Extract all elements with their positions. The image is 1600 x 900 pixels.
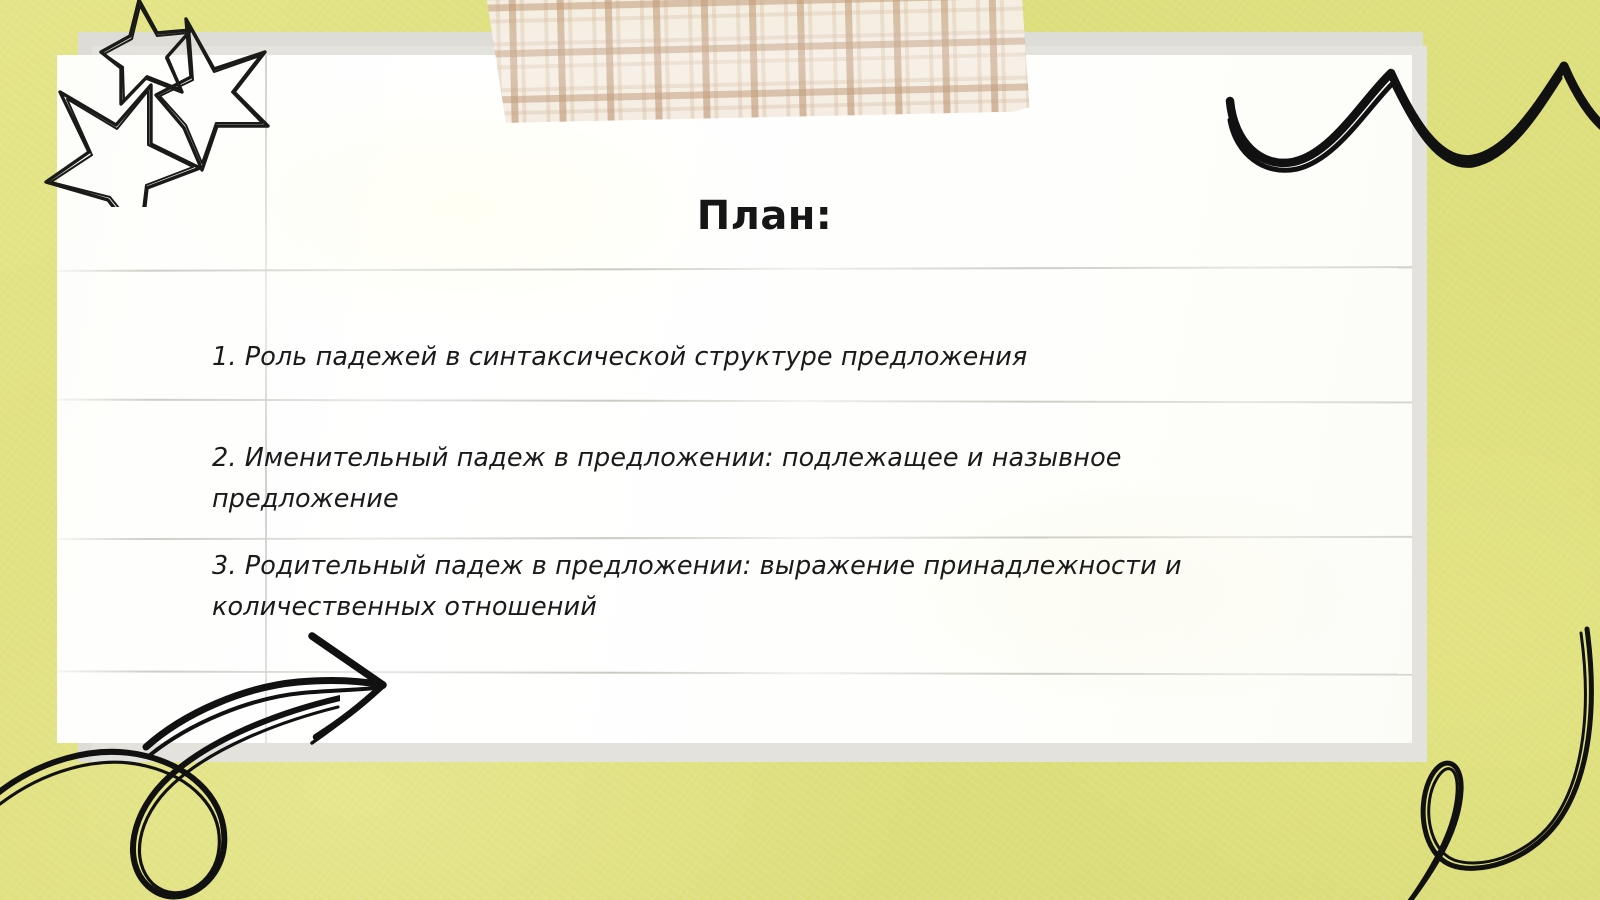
page-title: План:	[57, 193, 1412, 239]
plan-item: 3. Родительный падеж в предложении: выра…	[212, 546, 1212, 628]
ruled-line	[57, 266, 1412, 272]
slide: План: 1. Роль падежей в синтаксической с…	[0, 0, 1600, 900]
ruled-line	[57, 670, 1412, 675]
washi-tape-icon	[486, 0, 1029, 125]
tape-highlight	[486, 0, 1029, 125]
plan-list: 1. Роль падежей в синтаксической структу…	[212, 337, 1212, 628]
plan-item: 1. Роль падежей в синтаксической структу…	[212, 337, 1212, 378]
plan-item: 2. Именительный падеж в предложении: под…	[212, 438, 1212, 520]
paper-card: План: 1. Роль падежей в синтаксической с…	[57, 55, 1412, 743]
